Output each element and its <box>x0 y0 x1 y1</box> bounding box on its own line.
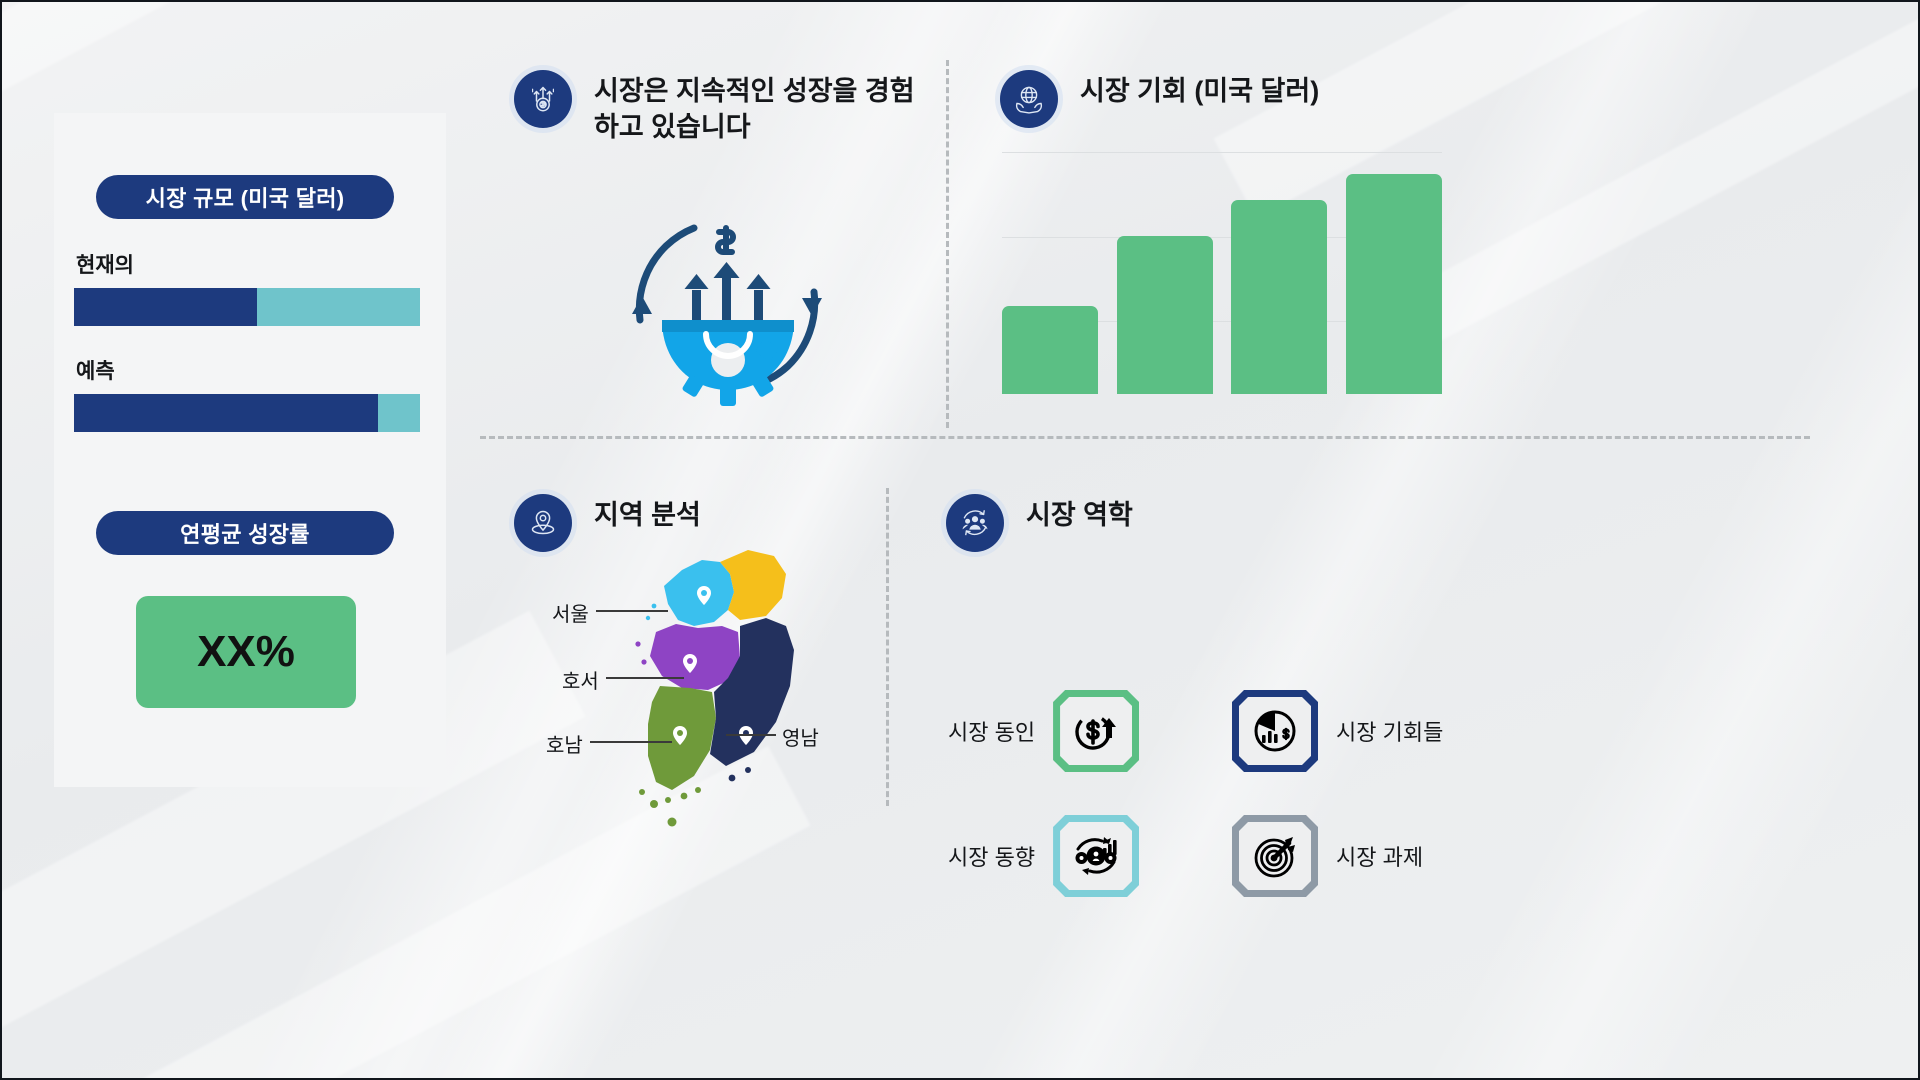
cagr-value-box: XX% <box>136 596 356 708</box>
divider-vertical-bottom <box>886 488 889 806</box>
dynamics-label-challenges: 시장 과제 <box>1336 840 1423 872</box>
current-bar-track <box>74 288 420 326</box>
forecast-bar-track <box>74 394 420 432</box>
map-label-honam: 호남 <box>546 729 583 758</box>
map-label-yeongnam: 영남 <box>782 722 819 751</box>
chart-bar <box>1117 236 1213 394</box>
chart-bar <box>1346 174 1442 394</box>
cagr-pill: 연평균 성장률 <box>96 511 394 555</box>
dynamics-frame-trends <box>1053 815 1139 897</box>
growth-section-title: 시장은 지속적인 성장을 경험하고 있습니다 <box>594 70 924 146</box>
people-cycle-icon <box>946 494 1004 552</box>
target-dart-icon <box>1249 830 1301 882</box>
dynamics-item-trends[interactable]: 시장 동향 <box>948 815 1139 897</box>
market-size-pill: 시장 규모 (미국 달러) <box>96 175 394 219</box>
current-bar-label: 현재의 <box>76 249 134 279</box>
dynamics-item-drivers[interactable]: 시장 동인 <box>948 690 1139 772</box>
divider-vertical-top <box>946 60 949 428</box>
dynamics-frame-opportunities <box>1232 690 1318 772</box>
forecast-bar-label: 예측 <box>76 355 115 385</box>
map-leader-yeongnam <box>726 734 776 736</box>
pie-chart-dollar-icon <box>1250 706 1300 756</box>
map-label-seoul: 서울 <box>552 598 589 627</box>
opportunity-bar-chart <box>1002 152 1442 394</box>
opportunity-section-title: 시장 기회 (미국 달러) <box>1080 70 1319 110</box>
location-pin-icon <box>514 494 572 552</box>
region-section-title: 지역 분석 <box>594 494 701 534</box>
map-leader-seoul <box>596 610 668 612</box>
korea-map-svg <box>598 546 842 846</box>
background-streak <box>0 0 388 130</box>
market-size-panel: 시장 규모 (미국 달러) 현재의 예측 연평균 성장률 XX% <box>54 113 446 787</box>
dynamics-item-challenges[interactable]: 시장 과제 <box>1232 815 1423 897</box>
dynamics-label-opportunities: 시장 기회들 <box>1336 715 1443 747</box>
forecast-bar-fill <box>74 394 378 432</box>
infographic-canvas: 시장 규모 (미국 달러) 현재의 예측 연평균 성장률 XX% <box>0 0 1920 1080</box>
map-leader-honam <box>590 741 672 743</box>
gears-trend-icon <box>1069 830 1123 882</box>
globe-in-hands-icon <box>1000 70 1058 128</box>
divider-horizontal <box>480 436 1810 439</box>
dynamics-label-drivers: 시장 동인 <box>948 715 1035 747</box>
korea-map <box>598 546 842 846</box>
dynamics-section-header: 시장 역학 <box>946 494 1133 552</box>
chart-bar <box>1002 306 1098 394</box>
opportunity-section-header: 시장 기회 (미국 달러) <box>1000 70 1319 128</box>
chart-gridline <box>1002 152 1442 153</box>
region-section-header: 지역 분석 <box>514 494 701 552</box>
dynamics-item-opportunities[interactable]: 시장 기회들 <box>1232 690 1443 772</box>
chart-bar <box>1231 200 1327 394</box>
current-bar-fill <box>74 288 257 326</box>
map-label-hoseo: 호서 <box>562 665 599 694</box>
dynamics-label-trends: 시장 동향 <box>948 840 1035 872</box>
background-streak <box>1409 0 1920 343</box>
map-leader-hoseo <box>606 677 684 679</box>
dollar-up-arrow-icon <box>1070 705 1122 757</box>
growth-section-header: 시장은 지속적인 성장을 경험하고 있습니다 <box>514 70 924 146</box>
dynamics-section-title: 시장 역학 <box>1026 494 1133 534</box>
dynamics-frame-challenges <box>1232 815 1318 897</box>
dynamics-grid: 시장 동인 <box>938 690 1518 820</box>
gear-dollar-arrows-cycle-illustration <box>602 192 852 417</box>
dynamics-frame-drivers <box>1053 690 1139 772</box>
growth-coin-arrows-icon <box>514 70 572 128</box>
